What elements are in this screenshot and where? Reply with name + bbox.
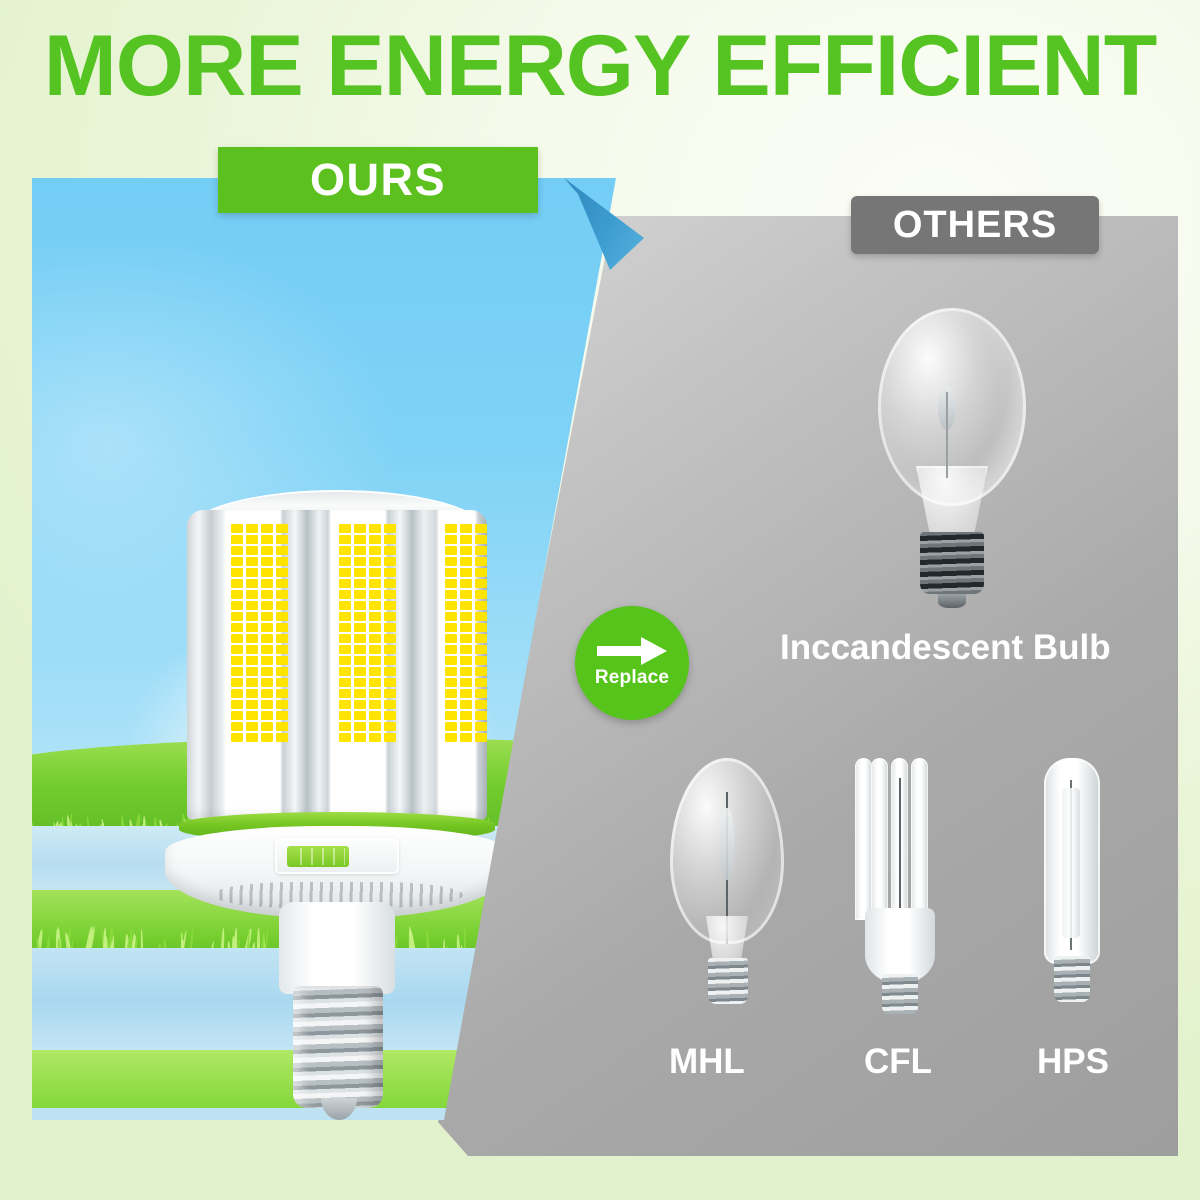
led-chip <box>339 535 351 544</box>
led-chip <box>445 623 457 632</box>
led-chip <box>384 700 396 709</box>
led-chip <box>339 656 351 665</box>
hps-arc-tube <box>1062 788 1080 938</box>
led-chip <box>460 557 472 566</box>
led-chip <box>369 535 381 544</box>
led-chip <box>231 700 243 709</box>
led-chip <box>246 535 258 544</box>
led-chip <box>354 590 366 599</box>
led-chip <box>276 667 288 676</box>
led-chip <box>276 700 288 709</box>
led-chip <box>460 733 472 742</box>
led-chip <box>261 601 273 610</box>
led-chip <box>354 568 366 577</box>
led-chip <box>339 612 351 621</box>
led-chip <box>354 601 366 610</box>
led-chip <box>354 623 366 632</box>
led-chip <box>231 623 243 632</box>
led-chip <box>475 601 487 610</box>
led-chip <box>339 524 351 533</box>
led-chip <box>460 601 472 610</box>
led-chip <box>339 568 351 577</box>
led-chip <box>231 546 243 555</box>
led-chip <box>354 678 366 687</box>
led-chip <box>261 678 273 687</box>
led-chip <box>261 667 273 676</box>
led-chip <box>276 612 288 621</box>
led-chip <box>369 733 381 742</box>
led-chip <box>339 722 351 731</box>
led-chip <box>231 524 243 533</box>
led-chip <box>475 579 487 588</box>
led-chip <box>354 634 366 643</box>
led-chip <box>369 722 381 731</box>
led-chip <box>475 678 487 687</box>
led-chip <box>384 722 396 731</box>
led-chip <box>276 689 288 698</box>
cfl-tube <box>871 758 888 920</box>
led-chip <box>445 612 457 621</box>
led-chip <box>339 689 351 698</box>
incandescent-screw-base <box>920 532 984 594</box>
led-chip <box>384 623 396 632</box>
led-chip <box>276 711 288 720</box>
led-chip <box>384 590 396 599</box>
cfl-bulb-image <box>855 758 955 1020</box>
led-chip <box>475 711 487 720</box>
led-chip <box>369 689 381 698</box>
arrow-right-icon <box>597 637 667 665</box>
led-chip <box>246 557 258 566</box>
led-chip <box>369 546 381 555</box>
led-chip-column <box>337 520 399 812</box>
led-chip <box>445 733 457 742</box>
led-chip <box>369 711 381 720</box>
led-chip <box>354 524 366 533</box>
led-chip <box>445 678 457 687</box>
led-chip <box>246 568 258 577</box>
led-chip <box>339 634 351 643</box>
led-chip <box>339 645 351 654</box>
led-chip <box>384 711 396 720</box>
led-chip <box>246 546 258 555</box>
led-chip <box>475 612 487 621</box>
led-chip <box>261 623 273 632</box>
led-chip <box>384 568 396 577</box>
led-chip <box>261 524 273 533</box>
ours-badge-label: OURS <box>310 154 446 206</box>
led-chip <box>276 623 288 632</box>
cfl-tube <box>855 758 872 920</box>
cfl-label: CFL <box>864 1042 932 1082</box>
led-chip <box>354 700 366 709</box>
led-chip <box>339 579 351 588</box>
cfl-wire <box>899 778 901 918</box>
led-chip <box>369 667 381 676</box>
led-chip <box>231 645 243 654</box>
led-chip <box>231 711 243 720</box>
bulb-neck <box>279 902 395 994</box>
led-chip <box>246 634 258 643</box>
led-chip <box>354 579 366 588</box>
led-chip <box>475 535 487 544</box>
page-title: MORE ENERGY EFFICIENT <box>0 18 1200 114</box>
led-chip <box>460 689 472 698</box>
ours-badge: OURS <box>218 147 538 213</box>
led-chip <box>246 524 258 533</box>
led-chip <box>261 700 273 709</box>
led-chip <box>445 535 457 544</box>
led-chip <box>369 579 381 588</box>
led-chip <box>246 612 258 621</box>
led-chip <box>261 568 273 577</box>
led-chip <box>354 546 366 555</box>
led-chip <box>246 689 258 698</box>
mhl-screw-base <box>708 958 748 1004</box>
led-chip <box>246 722 258 731</box>
led-chip-column <box>443 520 487 812</box>
led-chip <box>475 590 487 599</box>
led-chip <box>445 700 457 709</box>
led-chip <box>339 700 351 709</box>
led-chip <box>369 601 381 610</box>
led-chip <box>475 568 487 577</box>
replace-badge: Replace <box>575 606 689 720</box>
led-chip <box>246 711 258 720</box>
led-chip <box>369 524 381 533</box>
led-chip <box>354 557 366 566</box>
led-chip <box>445 711 457 720</box>
led-chip <box>261 557 273 566</box>
led-chip <box>231 590 243 599</box>
led-chip <box>261 546 273 555</box>
led-chip <box>339 590 351 599</box>
led-chip <box>384 546 396 555</box>
hps-screw-base <box>1054 956 1090 1002</box>
led-chip <box>460 590 472 599</box>
led-chip <box>261 579 273 588</box>
led-chip <box>276 634 288 643</box>
led-chip <box>460 678 472 687</box>
mhl-label: MHL <box>669 1042 745 1082</box>
led-chip <box>261 535 273 544</box>
led-chip <box>276 678 288 687</box>
led-chip <box>460 579 472 588</box>
led-chip <box>445 524 457 533</box>
others-badge: OTHERS <box>851 196 1099 254</box>
led-chip <box>445 546 457 555</box>
led-chip <box>460 546 472 555</box>
led-chip <box>354 645 366 654</box>
led-chip <box>354 535 366 544</box>
led-chip-column <box>229 520 291 812</box>
led-chip <box>384 612 396 621</box>
led-chip <box>246 700 258 709</box>
led-chip <box>369 623 381 632</box>
led-chip <box>460 524 472 533</box>
led-chip <box>369 590 381 599</box>
led-chip <box>261 645 273 654</box>
led-chip <box>276 601 288 610</box>
led-chip <box>460 634 472 643</box>
mhl-bulb-image <box>662 758 792 1020</box>
incandescent-filament-stem <box>946 392 948 478</box>
led-chip <box>460 700 472 709</box>
cfl-tube <box>911 758 928 920</box>
led-chip <box>231 722 243 731</box>
led-chip <box>445 645 457 654</box>
led-chip <box>445 590 457 599</box>
led-chip <box>231 656 243 665</box>
cfl-ballast-body <box>865 908 935 984</box>
led-chip <box>475 667 487 676</box>
led-chip <box>384 535 396 544</box>
led-chip <box>384 689 396 698</box>
led-chip <box>231 733 243 742</box>
led-chip <box>246 590 258 599</box>
led-chip <box>231 634 243 643</box>
led-chip <box>246 601 258 610</box>
led-chip <box>384 634 396 643</box>
led-chip <box>460 568 472 577</box>
led-chip <box>460 656 472 665</box>
led-chip <box>384 579 396 588</box>
incandescent-label: Inccandescent Bulb <box>780 628 1111 668</box>
led-chip <box>261 590 273 599</box>
led-chip <box>354 733 366 742</box>
led-chip <box>460 667 472 676</box>
led-chip <box>276 579 288 588</box>
led-chip <box>246 678 258 687</box>
led-chip <box>475 557 487 566</box>
led-chip <box>475 722 487 731</box>
led-chip <box>261 711 273 720</box>
led-chip <box>384 656 396 665</box>
led-chip <box>475 645 487 654</box>
led-chip <box>384 733 396 742</box>
led-chip <box>276 722 288 731</box>
led-chip <box>339 546 351 555</box>
led-chip <box>276 656 288 665</box>
led-chip <box>369 678 381 687</box>
led-chip <box>369 634 381 643</box>
led-chip <box>460 722 472 731</box>
led-chip <box>231 667 243 676</box>
led-chip <box>445 667 457 676</box>
led-chip <box>231 678 243 687</box>
led-chip <box>231 689 243 698</box>
led-chip <box>369 612 381 621</box>
led-chip <box>369 645 381 654</box>
led-chip <box>276 535 288 544</box>
led-chip <box>445 601 457 610</box>
led-chip <box>261 656 273 665</box>
led-chip <box>460 711 472 720</box>
led-chip <box>276 568 288 577</box>
led-chip <box>445 689 457 698</box>
led-chip <box>354 612 366 621</box>
led-chip <box>460 645 472 654</box>
led-chip <box>339 667 351 676</box>
led-chip <box>339 678 351 687</box>
mhl-arc-tube <box>720 808 734 880</box>
led-chip <box>276 557 288 566</box>
led-chip <box>369 656 381 665</box>
hps-bulb-image <box>1034 758 1110 1020</box>
led-chip <box>384 667 396 676</box>
led-chip <box>354 656 366 665</box>
led-chip <box>460 612 472 621</box>
led-chip <box>339 733 351 742</box>
led-chip <box>276 645 288 654</box>
led-chip <box>246 623 258 632</box>
led-chip <box>445 656 457 665</box>
led-chip <box>384 601 396 610</box>
led-chip <box>475 689 487 698</box>
base-contact-tip <box>321 1098 357 1120</box>
hps-label: HPS <box>1037 1042 1109 1082</box>
led-chip <box>475 700 487 709</box>
led-chip <box>261 733 273 742</box>
led-chip <box>276 590 288 599</box>
led-chip <box>231 579 243 588</box>
led-chip <box>231 557 243 566</box>
e39-screw-base <box>293 986 383 1108</box>
led-chip <box>475 656 487 665</box>
led-chip <box>445 722 457 731</box>
led-chip <box>460 623 472 632</box>
led-chip <box>261 689 273 698</box>
led-chip <box>445 634 457 643</box>
led-chip <box>384 524 396 533</box>
led-chip <box>354 711 366 720</box>
others-badge-label: OTHERS <box>893 204 1057 247</box>
led-chip <box>246 579 258 588</box>
led-chip <box>475 634 487 643</box>
led-chip <box>475 524 487 533</box>
led-chip <box>460 535 472 544</box>
replace-label: Replace <box>595 667 669 689</box>
led-chip <box>445 579 457 588</box>
led-chip <box>231 568 243 577</box>
led-chip <box>261 722 273 731</box>
led-chip <box>339 623 351 632</box>
led-chip <box>384 678 396 687</box>
led-chip <box>339 711 351 720</box>
led-chip <box>261 612 273 621</box>
led-chip <box>354 722 366 731</box>
led-chip <box>384 645 396 654</box>
led-chip <box>369 700 381 709</box>
led-chip <box>246 733 258 742</box>
green-slider <box>287 846 349 867</box>
led-chip <box>369 557 381 566</box>
led-chip <box>354 667 366 676</box>
led-chip <box>354 689 366 698</box>
incandescent-bulb-image <box>860 308 1040 608</box>
led-chip <box>261 634 273 643</box>
led-chip <box>231 535 243 544</box>
led-chip <box>475 623 487 632</box>
led-chip <box>276 546 288 555</box>
led-bulb-body <box>187 510 487 820</box>
led-chip <box>231 612 243 621</box>
led-chip <box>339 557 351 566</box>
led-chip <box>276 524 288 533</box>
led-chip <box>384 557 396 566</box>
led-chip <box>369 568 381 577</box>
led-chip <box>231 601 243 610</box>
led-chip <box>246 656 258 665</box>
led-chip <box>246 667 258 676</box>
cfl-screw-base <box>882 974 918 1014</box>
led-chip <box>475 546 487 555</box>
led-chip <box>246 645 258 654</box>
led-chip <box>445 557 457 566</box>
led-chip <box>475 733 487 742</box>
led-chip <box>339 601 351 610</box>
led-chip <box>445 568 457 577</box>
led-chip <box>276 733 288 742</box>
